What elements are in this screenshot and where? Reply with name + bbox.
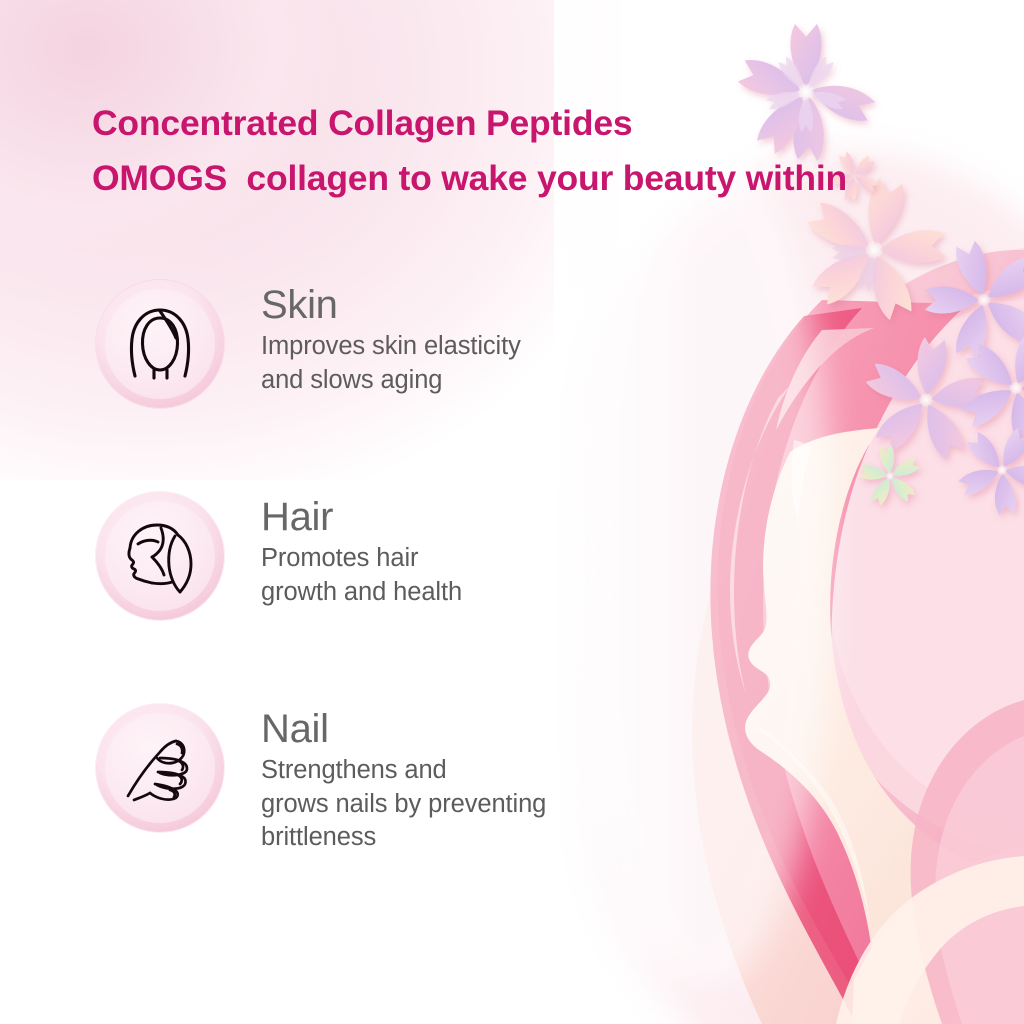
- headline-line-2: OMOGS collagen to wake your beauty withi…: [92, 151, 972, 206]
- headline-line-1: Concentrated Collagen Peptides: [92, 96, 972, 151]
- headline-block: Concentrated Collagen Peptides OMOGS col…: [92, 96, 972, 206]
- face-hair-icon: [114, 298, 206, 390]
- profile-ponytail-icon: [114, 510, 206, 602]
- benefits-list: Skin Improves skin elasticity and slows …: [96, 278, 676, 855]
- benefit-item-nail: Nail Strengthens and grows nails by prev…: [96, 702, 676, 855]
- benefit-title-nail: Nail: [261, 706, 546, 752]
- benefit-title-hair: Hair: [261, 494, 462, 540]
- benefit-desc-hair: Promotes hair growth and health: [261, 542, 462, 609]
- benefit-title-skin: Skin: [261, 282, 521, 328]
- hair-text-block: Hair Promotes hair growth and health: [224, 490, 462, 609]
- poster-canvas: Concentrated Collagen Peptides OMOGS col…: [0, 0, 1024, 1024]
- skin-icon-badge: [96, 280, 224, 408]
- benefit-item-skin: Skin Improves skin elasticity and slows …: [96, 278, 676, 408]
- hand-nails-icon: [114, 722, 206, 814]
- nail-text-block: Nail Strengthens and grows nails by prev…: [224, 702, 546, 855]
- hair-icon-badge: [96, 492, 224, 620]
- nail-icon-badge: [96, 704, 224, 832]
- skin-text-block: Skin Improves skin elasticity and slows …: [224, 278, 521, 397]
- benefit-desc-skin: Improves skin elasticity and slows aging: [261, 330, 521, 397]
- benefit-item-hair: Hair Promotes hair growth and health: [96, 490, 676, 620]
- benefit-desc-nail: Strengthens and grows nails by preventin…: [261, 754, 546, 855]
